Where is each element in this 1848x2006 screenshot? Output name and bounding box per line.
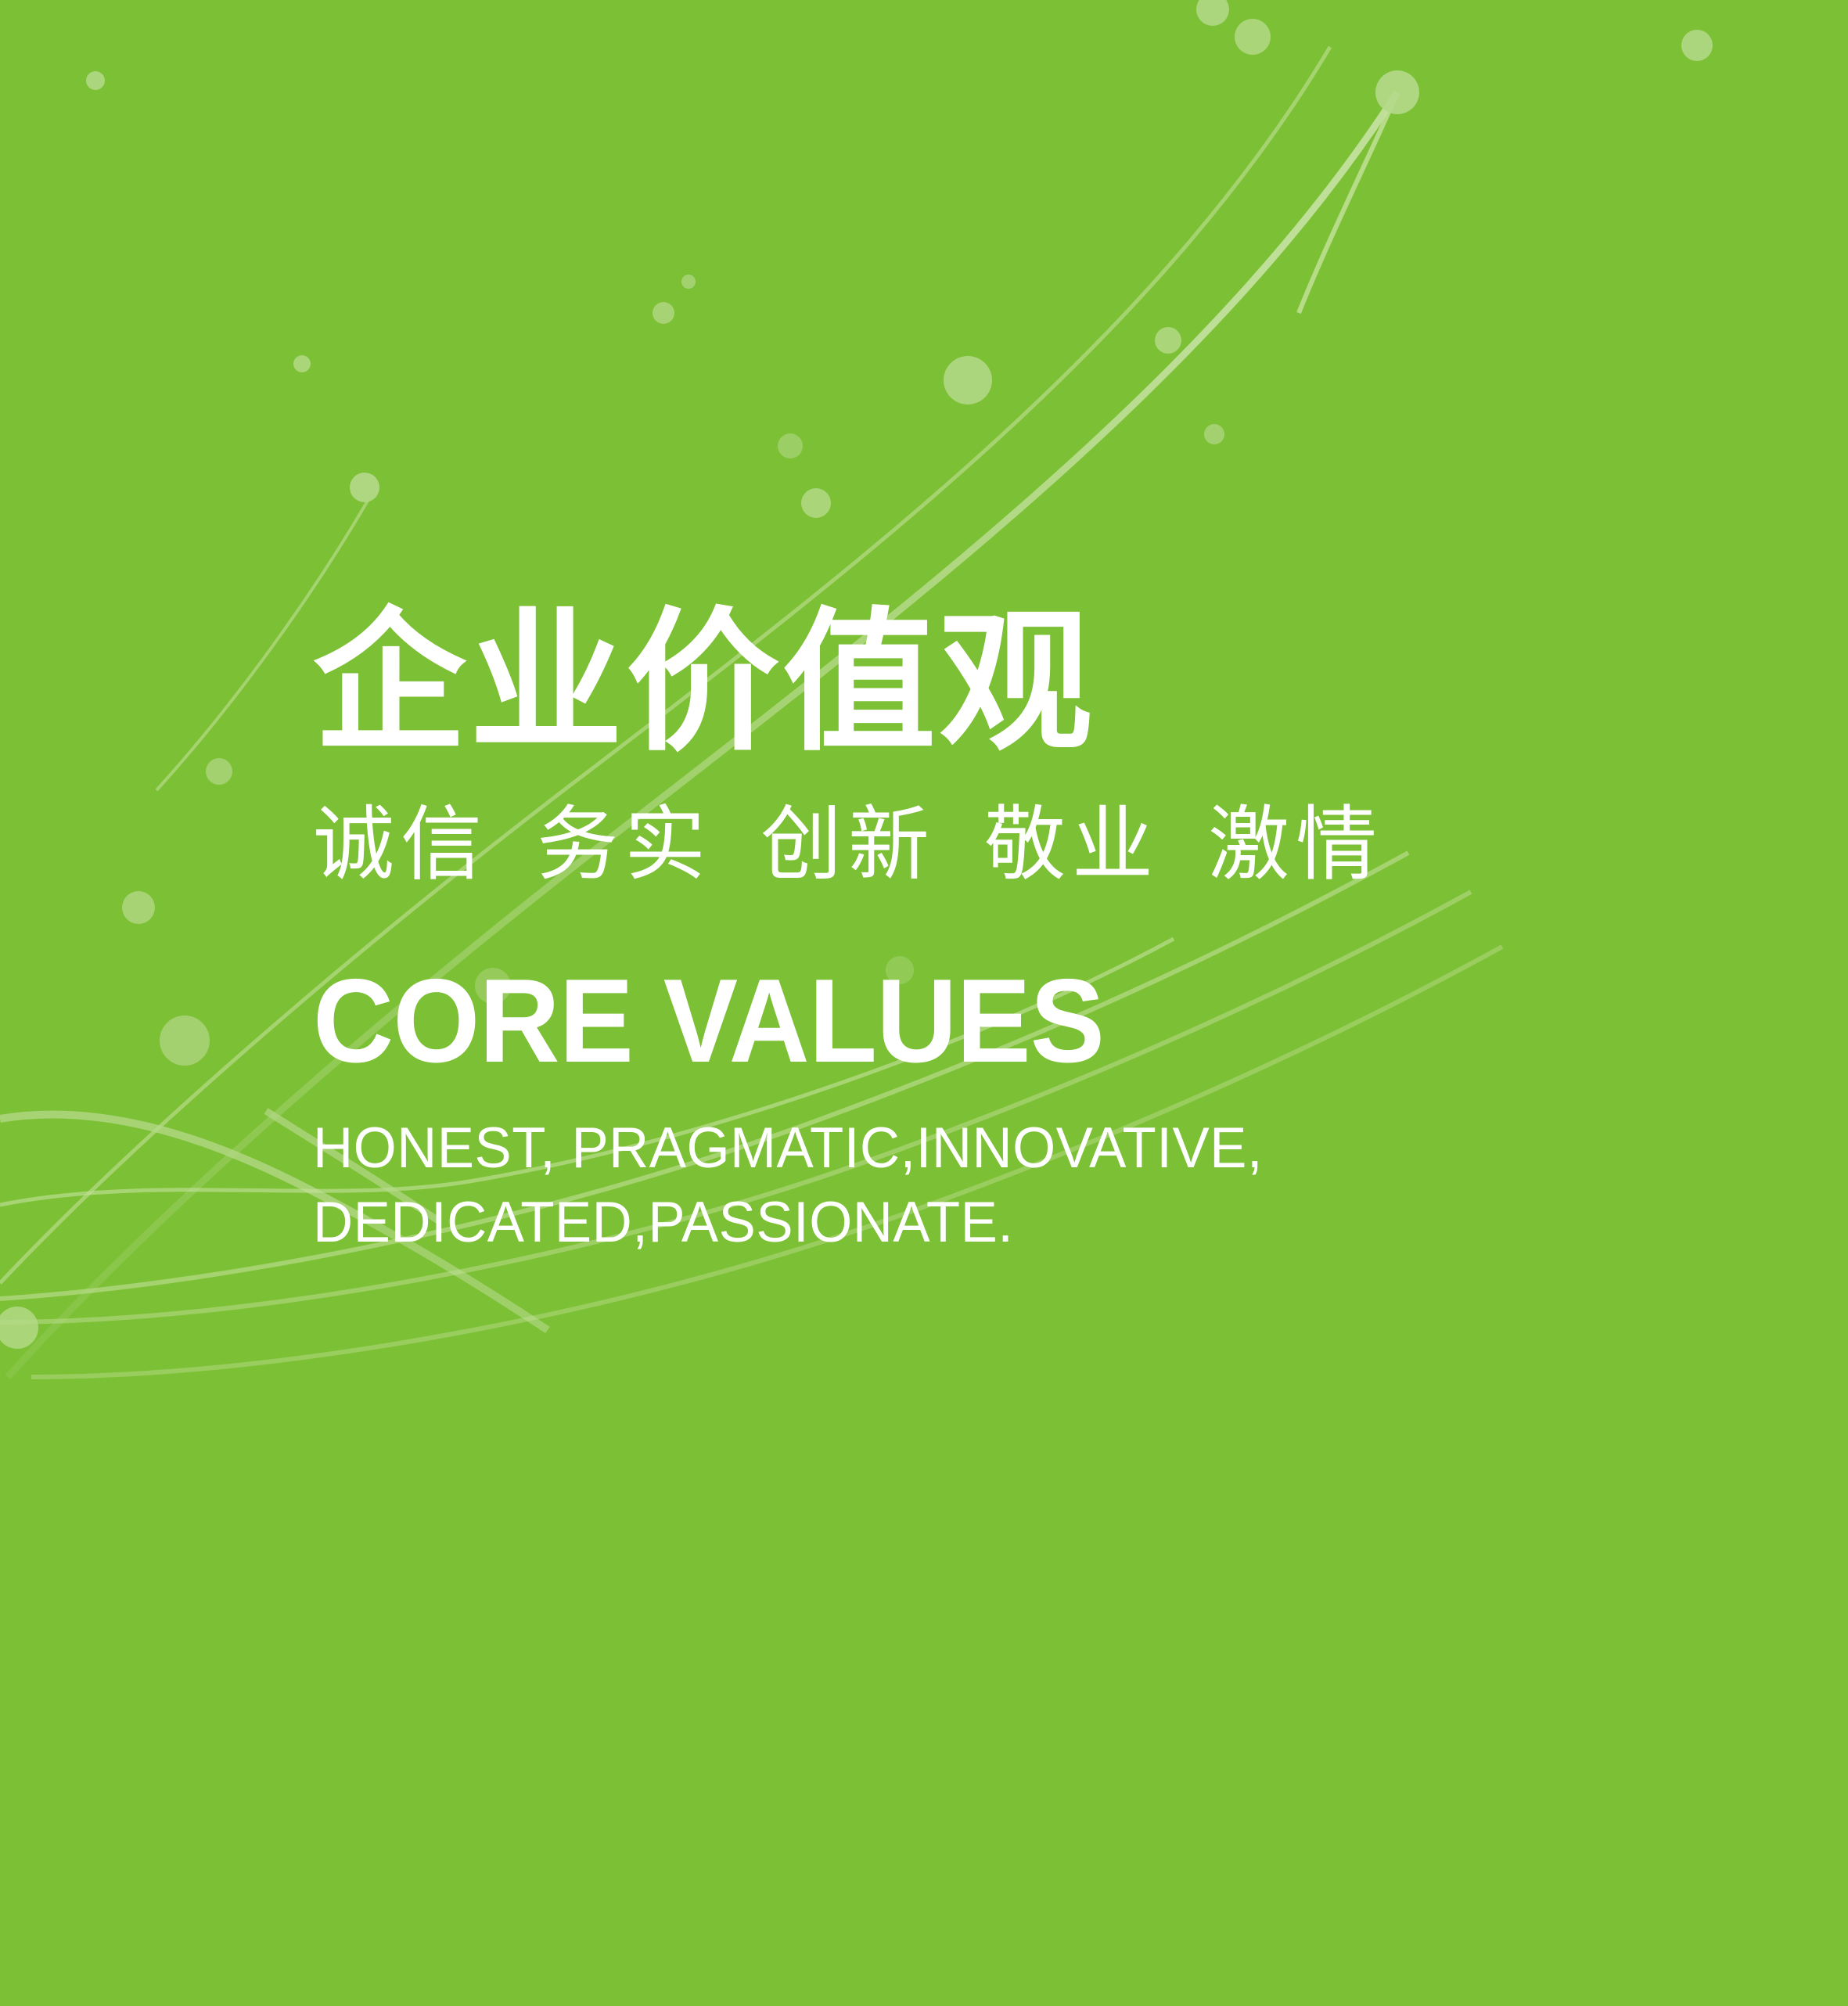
text-content-block: 企业价值观 诚信务实创新敬业激情 CORE VALUES HONEST, PRA… bbox=[313, 602, 1721, 1260]
decor-node-dot bbox=[653, 302, 674, 324]
decor-node-dot bbox=[86, 71, 105, 90]
page-title-english: CORE VALUES bbox=[313, 962, 1637, 1080]
decor-node-dot bbox=[778, 433, 803, 458]
decor-node-dot bbox=[1375, 70, 1419, 114]
decor-node-dot bbox=[1235, 19, 1271, 55]
value-word-1: 诚信 bbox=[313, 795, 488, 894]
value-word-3: 创新 bbox=[760, 795, 936, 894]
decor-node-dot bbox=[1681, 30, 1713, 61]
decor-node-dot bbox=[160, 1016, 210, 1066]
value-word-4: 敬业 bbox=[984, 795, 1159, 894]
subtitle-chinese: 诚信务实创新敬业激情 bbox=[313, 795, 1721, 894]
value-word-5: 激情 bbox=[1208, 795, 1383, 894]
values-line-2: DEDICATED,PASSIONATE. bbox=[313, 1186, 1679, 1260]
values-line-1: HONEST, PRAGMATIC,INNOVATIVE, bbox=[313, 1112, 1679, 1186]
curve-node-stem-top bbox=[1299, 92, 1397, 313]
page-title-chinese: 企业价值观 bbox=[313, 602, 1721, 765]
value-word-2: 务实 bbox=[537, 795, 712, 894]
decor-node-dot bbox=[1155, 327, 1181, 354]
decor-node-dot bbox=[0, 1307, 38, 1349]
decor-node-dot bbox=[350, 473, 379, 502]
decor-node-dot bbox=[801, 488, 831, 518]
decor-node-dot bbox=[1204, 424, 1224, 444]
decor-node-dot bbox=[681, 275, 696, 289]
decor-node-dot bbox=[293, 355, 311, 372]
decor-node-dot bbox=[206, 758, 232, 785]
decor-node-dot bbox=[944, 356, 992, 404]
decor-node-dot bbox=[122, 891, 155, 924]
values-list-english: HONEST, PRAGMATIC,INNOVATIVE, DEDICATED,… bbox=[313, 1112, 1679, 1260]
decor-node-dot bbox=[1196, 0, 1229, 26]
core-values-poster: 企业价值观 诚信务实创新敬业激情 CORE VALUES HONEST, PRA… bbox=[0, 0, 1848, 2006]
